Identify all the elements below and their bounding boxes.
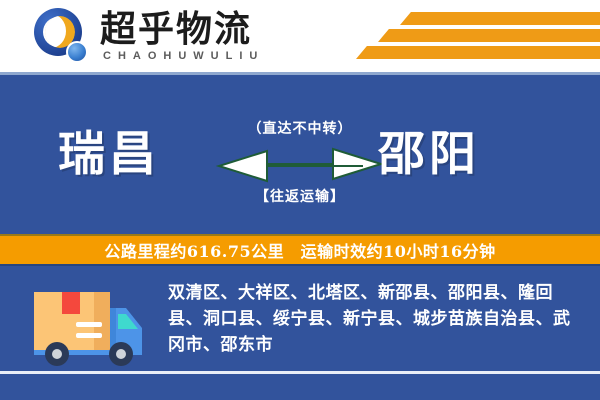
double-arrow-icon <box>215 144 385 184</box>
stripe-bottom <box>356 46 600 59</box>
brand-name-pinyin: CHAOHUWULIU <box>103 50 264 62</box>
circle-crescent-logo-icon <box>34 8 92 66</box>
origin-city: 瑞昌 <box>58 124 160 186</box>
route-note-roundtrip: 【往返运输】 <box>205 186 395 206</box>
route-note-direct: （直达不中转） <box>205 118 395 138</box>
distance-duration-text: 公路里程约616.75公里 运输时效约10小时16分钟 <box>104 238 495 262</box>
destination-city: 邵阳 <box>378 124 480 186</box>
logo-accent-dot <box>66 41 88 63</box>
bottom-divider <box>0 371 600 374</box>
coverage-area-list: 双清区、大祥区、北塔区、新邵县、邵阳县、隆回县、洞口县、绥宁县、新宁县、城步苗族… <box>168 280 586 358</box>
route-section: 瑞昌 （直达不中转） 【往返运输】 邵阳 <box>0 110 600 215</box>
distance-duration-bar: 公路里程约616.75公里 运输时效约10小时16分钟 <box>0 234 600 266</box>
delivery-truck-icon <box>24 278 152 370</box>
stripe-top <box>400 12 600 25</box>
banner-header: 超乎物流 CHAOHUWULIU <box>0 0 600 72</box>
stripe-middle <box>378 29 600 42</box>
brand-name-chinese: 超乎物流 <box>100 9 252 49</box>
orange-chevron-stripes-icon <box>338 10 600 62</box>
logistics-route-banner: 超乎物流 CHAOHUWULIU 瑞昌 （直达不中转） 【往返运输】 邵阳 公路… <box>0 0 600 400</box>
